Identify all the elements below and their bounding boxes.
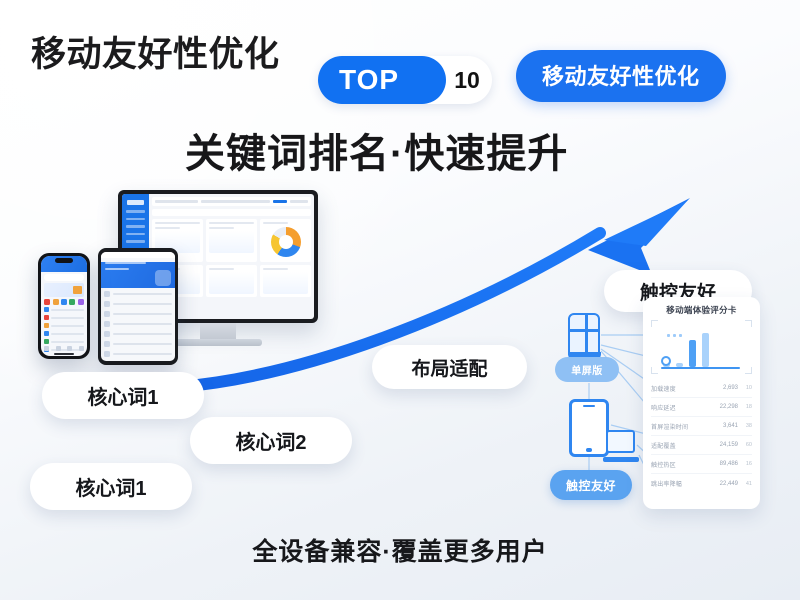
table-row: 首屏渲染时间 3,641 38: [651, 417, 752, 436]
header-tag-pill: 移动友好性优化: [516, 50, 726, 102]
page-subtitle: 关键词排名·快速提升: [185, 121, 568, 179]
scorecard-marker-icon: [661, 356, 671, 366]
smartphone-mockup: [38, 253, 90, 359]
top-badge-word: TOP: [339, 64, 399, 96]
scorecard-chart: [651, 320, 752, 374]
scorecard-table: 加载速度 2,693 10 响应延迟 22,298 18 首屏渲染时间 3,64…: [651, 379, 752, 493]
footer-caption: 全设备兼容·覆盖更多用户: [0, 532, 800, 568]
diagram-laptop-icon: [603, 430, 639, 462]
dashboard-filter-row: [152, 209, 311, 216]
table-row: 加载速度 2,693 10: [651, 379, 752, 398]
dashboard-topbar: [152, 197, 311, 206]
monitor-stand-base: [174, 339, 262, 346]
monitor-stand-neck: [200, 323, 236, 339]
diagram-pill-single-screen: 单屏版: [555, 357, 619, 382]
keyword-pill-3[interactable]: 核心词1: [30, 463, 192, 510]
scorecard-title: 移动端体验评分卡: [651, 304, 752, 316]
top-badge-number: 10: [447, 60, 487, 100]
phone-home-indicator: [54, 353, 74, 355]
phone-notch: [55, 258, 73, 263]
top-rank-badge: TOP 10: [318, 56, 492, 104]
scorecard-bars: [663, 323, 742, 367]
poster-canvas: 移动友好性优化 TOP 10 移动友好性优化 关键词排名·快速提升: [0, 0, 800, 600]
table-row: 触控热区 89,486 16: [651, 455, 752, 474]
phone-search-bar: [44, 274, 84, 281]
device-mockup-group: [20, 190, 340, 400]
diagram-pill-touch-friendly: 触控友好: [550, 470, 632, 500]
callout-layout-adapt[interactable]: 布局适配: [372, 345, 527, 389]
keyword-pill-1[interactable]: 核心词1: [42, 372, 204, 419]
table-row: 适配覆盖 24,159 60: [651, 436, 752, 455]
mobile-experience-scorecard: 移动端体验评分卡 加载速度 2,693 10: [643, 297, 760, 509]
tablet-mockup: [98, 248, 178, 365]
top-badge-blue-pill: TOP: [318, 56, 446, 104]
table-row: 响应延迟 22,298 18: [651, 398, 752, 417]
device-network-diagram: 单屏版 触控友好 移动端体验评分卡: [545, 305, 760, 510]
phone-icon-row: [43, 299, 85, 305]
tablet-hero-banner: [101, 262, 175, 288]
donut-chart: [271, 227, 301, 257]
diagram-foldable-phone-icon: [568, 313, 600, 359]
keyword-pill-2[interactable]: 核心词2: [190, 417, 352, 464]
page-title: 移动友好性优化: [31, 26, 280, 77]
table-row: 跳出率降幅 22,449 41: [651, 474, 752, 493]
